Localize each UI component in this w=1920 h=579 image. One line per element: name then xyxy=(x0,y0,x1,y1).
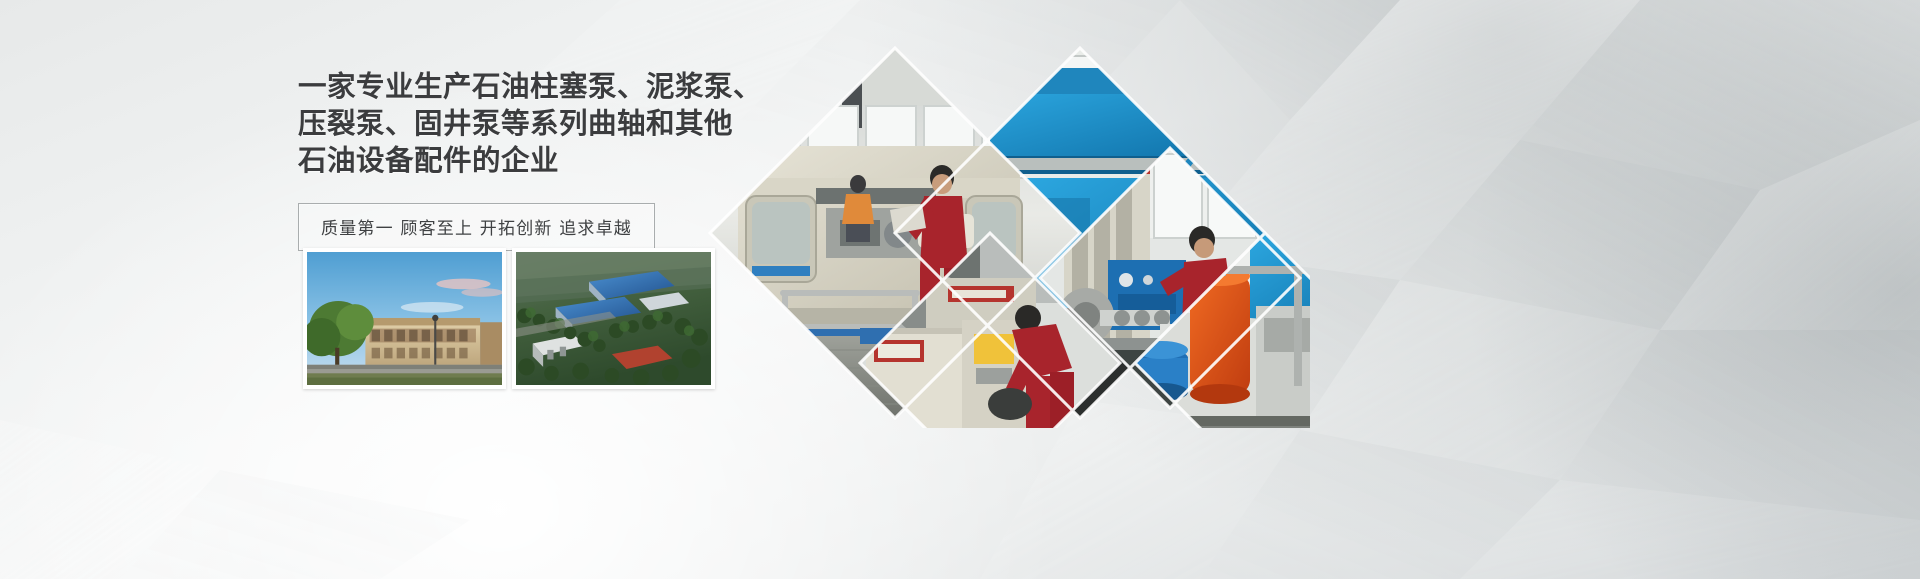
slogan-box: 质量第一 顾客至上 开拓创新 追求卓越 xyxy=(298,203,655,251)
hero-text-column: 一家专业生产石油柱塞泵、泥浆泵、 压裂泵、固井泵等系列曲轴和其他 石油设备配件的… xyxy=(298,68,718,251)
factory-aerial-photo[interactable] xyxy=(512,248,715,389)
company-photo-strip xyxy=(303,248,715,389)
factory-aerial-image xyxy=(516,252,711,385)
diamond-photo-collage xyxy=(690,28,1310,428)
office-building-image xyxy=(307,252,502,385)
headline-line-1: 一家专业生产石油柱塞泵、泥浆泵、 xyxy=(298,68,718,105)
diamond-collage-image xyxy=(690,28,1310,428)
hero-banner: 一家专业生产石油柱塞泵、泥浆泵、 压裂泵、固井泵等系列曲轴和其他 石油设备配件的… xyxy=(0,0,1920,579)
hero-headline: 一家专业生产石油柱塞泵、泥浆泵、 压裂泵、固井泵等系列曲轴和其他 石油设备配件的… xyxy=(298,68,718,179)
headline-line-3: 石油设备配件的企业 xyxy=(298,142,718,179)
office-building-photo[interactable] xyxy=(303,248,506,389)
headline-line-2: 压裂泵、固井泵等系列曲轴和其他 xyxy=(298,105,718,142)
